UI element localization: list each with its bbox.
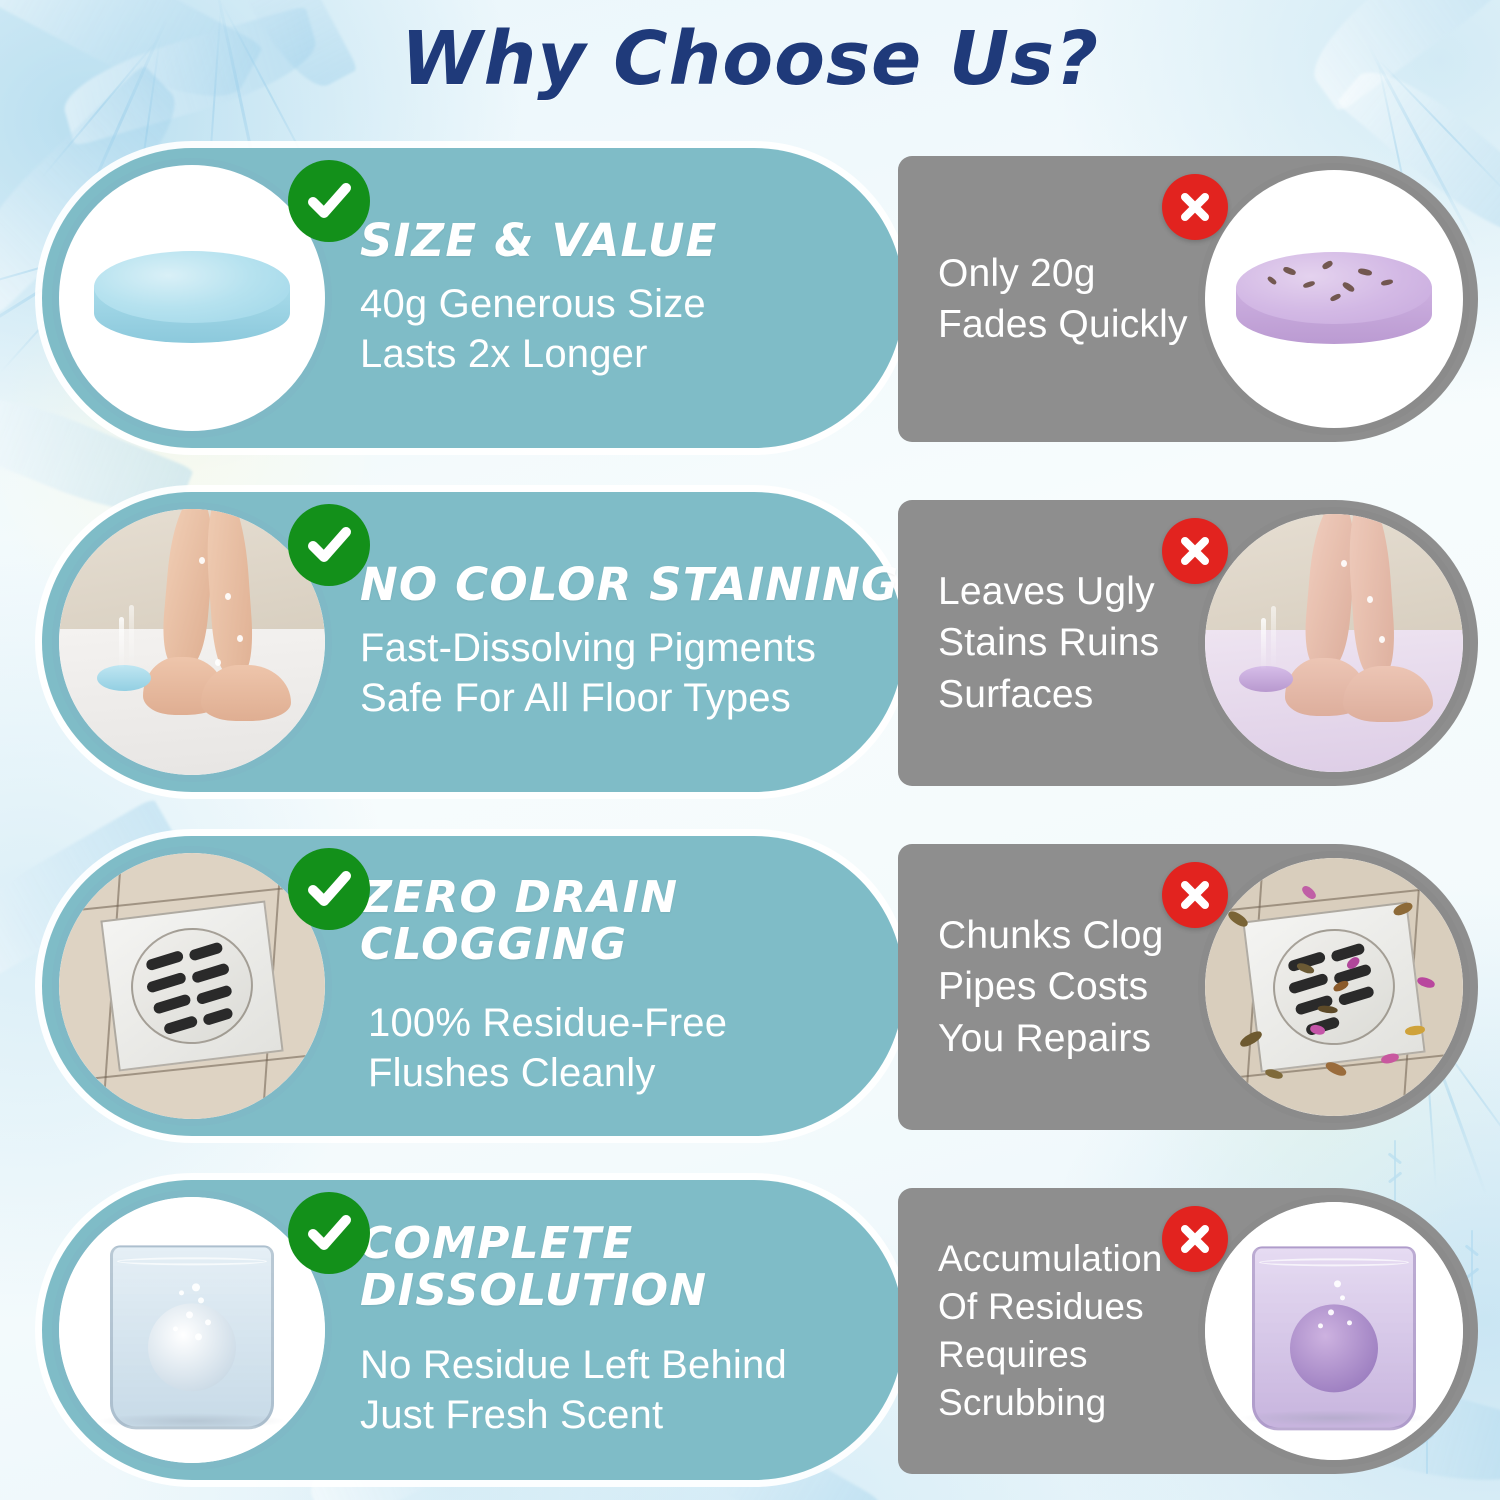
positive-body: No Residue Left Behind Just Fresh Scent (360, 1340, 920, 1441)
check-icon (288, 1192, 370, 1274)
positive-heading: COMPLETE DISSOLUTION (360, 1220, 920, 1314)
cross-icon (1162, 174, 1228, 240)
cross-icon (1162, 1206, 1228, 1272)
positive-heading: ZERO DRAIN CLOGGING (360, 874, 920, 968)
comparison-row: NO COLOR STAINING Fast-Dissolving Pigmen… (0, 492, 1500, 792)
purple-tablet-illustration (1236, 252, 1432, 356)
negative-body-line: Requires (938, 1331, 1228, 1379)
negative-image (1198, 163, 1470, 435)
negative-card: Accumulation Of Residues Requires Scrubb… (898, 1188, 1478, 1474)
negative-body-line: Stains Ruins (938, 617, 1228, 668)
infographic-page: Why Choose Us? SIZE & VALUE 40g Generous… (0, 0, 1500, 1500)
positive-text-block: NO COLOR STAINING Fast-Dissolving Pigmen… (360, 492, 920, 792)
positive-text-block: SIZE & VALUE 40g Generous Size Lasts 2x … (360, 148, 920, 448)
positive-body-line: Fast-Dissolving Pigments (360, 623, 920, 673)
positive-heading-line: DISSOLUTION (360, 1267, 920, 1314)
positive-body: Fast-Dissolving Pigments Safe For All Fl… (360, 623, 920, 724)
positive-body-line: Safe For All Floor Types (360, 673, 920, 723)
positive-body: 40g Generous Size Lasts 2x Longer (360, 279, 920, 380)
negative-body-line: Fades Quickly (938, 299, 1228, 350)
negative-card: Chunks Clog Pipes Costs You Repairs (898, 844, 1478, 1130)
check-icon (288, 848, 370, 930)
positive-heading-line: COMPLETE (360, 1220, 920, 1267)
positive-body-line: 40g Generous Size (360, 279, 920, 329)
positive-card: COMPLETE DISSOLUTION No Residue Left Beh… (42, 1180, 904, 1480)
comparison-row: ZERO DRAIN CLOGGING 100% Residue-Free Fl… (0, 836, 1500, 1136)
clogged-drain-illustration (1205, 858, 1463, 1116)
check-icon (288, 504, 370, 586)
positive-body-line: No Residue Left Behind (360, 1340, 920, 1390)
blue-tablet-illustration (94, 251, 290, 355)
negative-body-line: Only 20g (938, 248, 1228, 299)
clean-drain-illustration (59, 853, 325, 1119)
positive-card: ZERO DRAIN CLOGGING 100% Residue-Free Fl… (42, 836, 904, 1136)
negative-body-line: Pipes Costs (938, 961, 1228, 1012)
purple-glass-illustration (1205, 1202, 1463, 1460)
comparison-row: SIZE & VALUE 40g Generous Size Lasts 2x … (0, 148, 1500, 448)
positive-body: 100% Residue-Free Flushes Cleanly (360, 998, 920, 1099)
positive-text-block: COMPLETE DISSOLUTION No Residue Left Beh… (360, 1180, 920, 1480)
negative-card: Only 20g Fades Quickly (898, 156, 1478, 442)
negative-image (1198, 1195, 1470, 1467)
positive-heading: NO COLOR STAINING (360, 561, 920, 609)
negative-body-line: Of Residues (938, 1283, 1228, 1331)
positive-heading-line: ZERO DRAIN (360, 874, 920, 921)
check-icon (288, 160, 370, 242)
negative-body-line: Surfaces (938, 669, 1228, 720)
positive-heading: SIZE & VALUE (360, 217, 920, 265)
negative-card: Leaves Ugly Stains Ruins Surfaces (898, 500, 1478, 786)
positive-body-line: Flushes Cleanly (368, 1048, 920, 1098)
cross-icon (1162, 862, 1228, 928)
positive-heading-line: CLOGGING (360, 921, 920, 968)
negative-image (1198, 851, 1470, 1123)
positive-body-line: 100% Residue-Free (368, 998, 920, 1048)
page-title: Why Choose Us? (0, 16, 1500, 102)
cross-icon (1162, 518, 1228, 584)
clean-floor-illustration (59, 509, 325, 775)
comparison-row: COMPLETE DISSOLUTION No Residue Left Beh… (0, 1180, 1500, 1480)
stained-floor-illustration (1205, 514, 1463, 772)
positive-card: NO COLOR STAINING Fast-Dissolving Pigmen… (42, 492, 904, 792)
clear-glass-illustration (59, 1197, 325, 1463)
positive-card: SIZE & VALUE 40g Generous Size Lasts 2x … (42, 148, 904, 448)
positive-text-block: ZERO DRAIN CLOGGING 100% Residue-Free Fl… (360, 836, 920, 1136)
negative-image (1198, 507, 1470, 779)
positive-body-line: Just Fresh Scent (360, 1390, 920, 1440)
positive-body-line: Lasts 2x Longer (360, 329, 920, 379)
negative-body-line: You Repairs (938, 1013, 1228, 1064)
negative-body-line: Scrubbing (938, 1379, 1228, 1427)
